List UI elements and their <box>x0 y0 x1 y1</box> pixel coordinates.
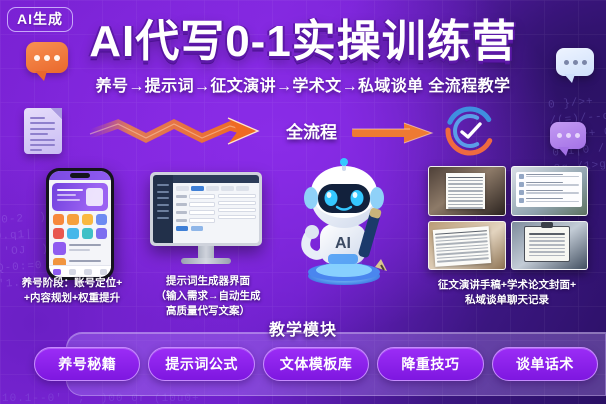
process-flow-row: 全流程 <box>0 100 606 162</box>
caption-middle: 提示词生成器界面（输入需求→自动生成高质量代写文案） <box>146 274 270 320</box>
module-pill-sales[interactable]: 谈单话术 <box>492 347 598 381</box>
app-hero-banner <box>52 183 108 211</box>
progress-check-donut-icon <box>443 104 497 158</box>
admin-form <box>176 194 256 231</box>
ai-robot-mascot: AI <box>288 158 400 286</box>
phone-notch <box>70 173 90 178</box>
module-pill-reduce[interactable]: 降重技巧 <box>377 347 483 381</box>
monitor-base <box>181 258 231 264</box>
document-icon <box>24 108 62 154</box>
photo-grid <box>428 166 588 270</box>
caption-right: 征文演讲手稿+学术论文封面+私域谈单聊天记录 <box>414 278 600 308</box>
admin-topbar <box>173 175 259 183</box>
module-pill-list: 养号秘籍 提示词公式 文体模板库 降重技巧 谈单话术 <box>34 346 598 382</box>
admin-body <box>173 183 259 234</box>
monitor-neck <box>198 246 214 258</box>
page-title: AI代写0-1实操训练营 <box>0 20 606 64</box>
photo-papers-with-pen <box>428 221 506 271</box>
monitor-screen <box>153 175 259 243</box>
flow-stage-label: 全流程 <box>286 118 337 143</box>
photo-chat-window <box>511 166 589 216</box>
preview-column <box>218 194 257 231</box>
caption-left: 养号阶段：账号定位++内容规划+权重提升 <box>2 276 142 306</box>
list-item <box>53 242 107 255</box>
robot-chest-label: AI <box>335 235 351 252</box>
app-icon-grid <box>53 214 107 239</box>
module-pill-yanghao[interactable]: 养号秘籍 <box>34 347 140 381</box>
admin-sidebar <box>153 175 173 243</box>
module-pill-prompt[interactable]: 提示词公式 <box>148 347 254 381</box>
admin-tabs <box>176 186 256 191</box>
form-column <box>176 194 215 231</box>
phone-status-bar <box>49 171 111 180</box>
phone-screen <box>49 171 111 277</box>
form-buttons <box>176 226 215 231</box>
photo-hand-holding-document <box>428 166 506 216</box>
phone-app-screenshot <box>46 168 114 280</box>
poster-canvas: R0-2 )=0.q1| 'OJ )Q-0:=0'1.L/q 0 }/>+ /(… <box>0 0 606 404</box>
module-pill-template[interactable]: 文体模板库 <box>263 347 369 381</box>
page-subtitle: 养号→提示词→征文演讲→学术文→私域谈单 全流程教学 <box>0 72 606 96</box>
zigzag-arrow-icon <box>88 114 260 148</box>
admin-main <box>173 175 259 243</box>
photo-clipboard-on-laptop <box>511 221 589 271</box>
arrow-right-icon <box>352 122 434 144</box>
monitor-bezel <box>150 172 262 246</box>
modules-section-title: 教学模块 <box>0 316 606 340</box>
desktop-admin-screenshot <box>150 172 262 276</box>
document-lines <box>30 117 55 155</box>
banner-text-lines <box>57 189 83 204</box>
